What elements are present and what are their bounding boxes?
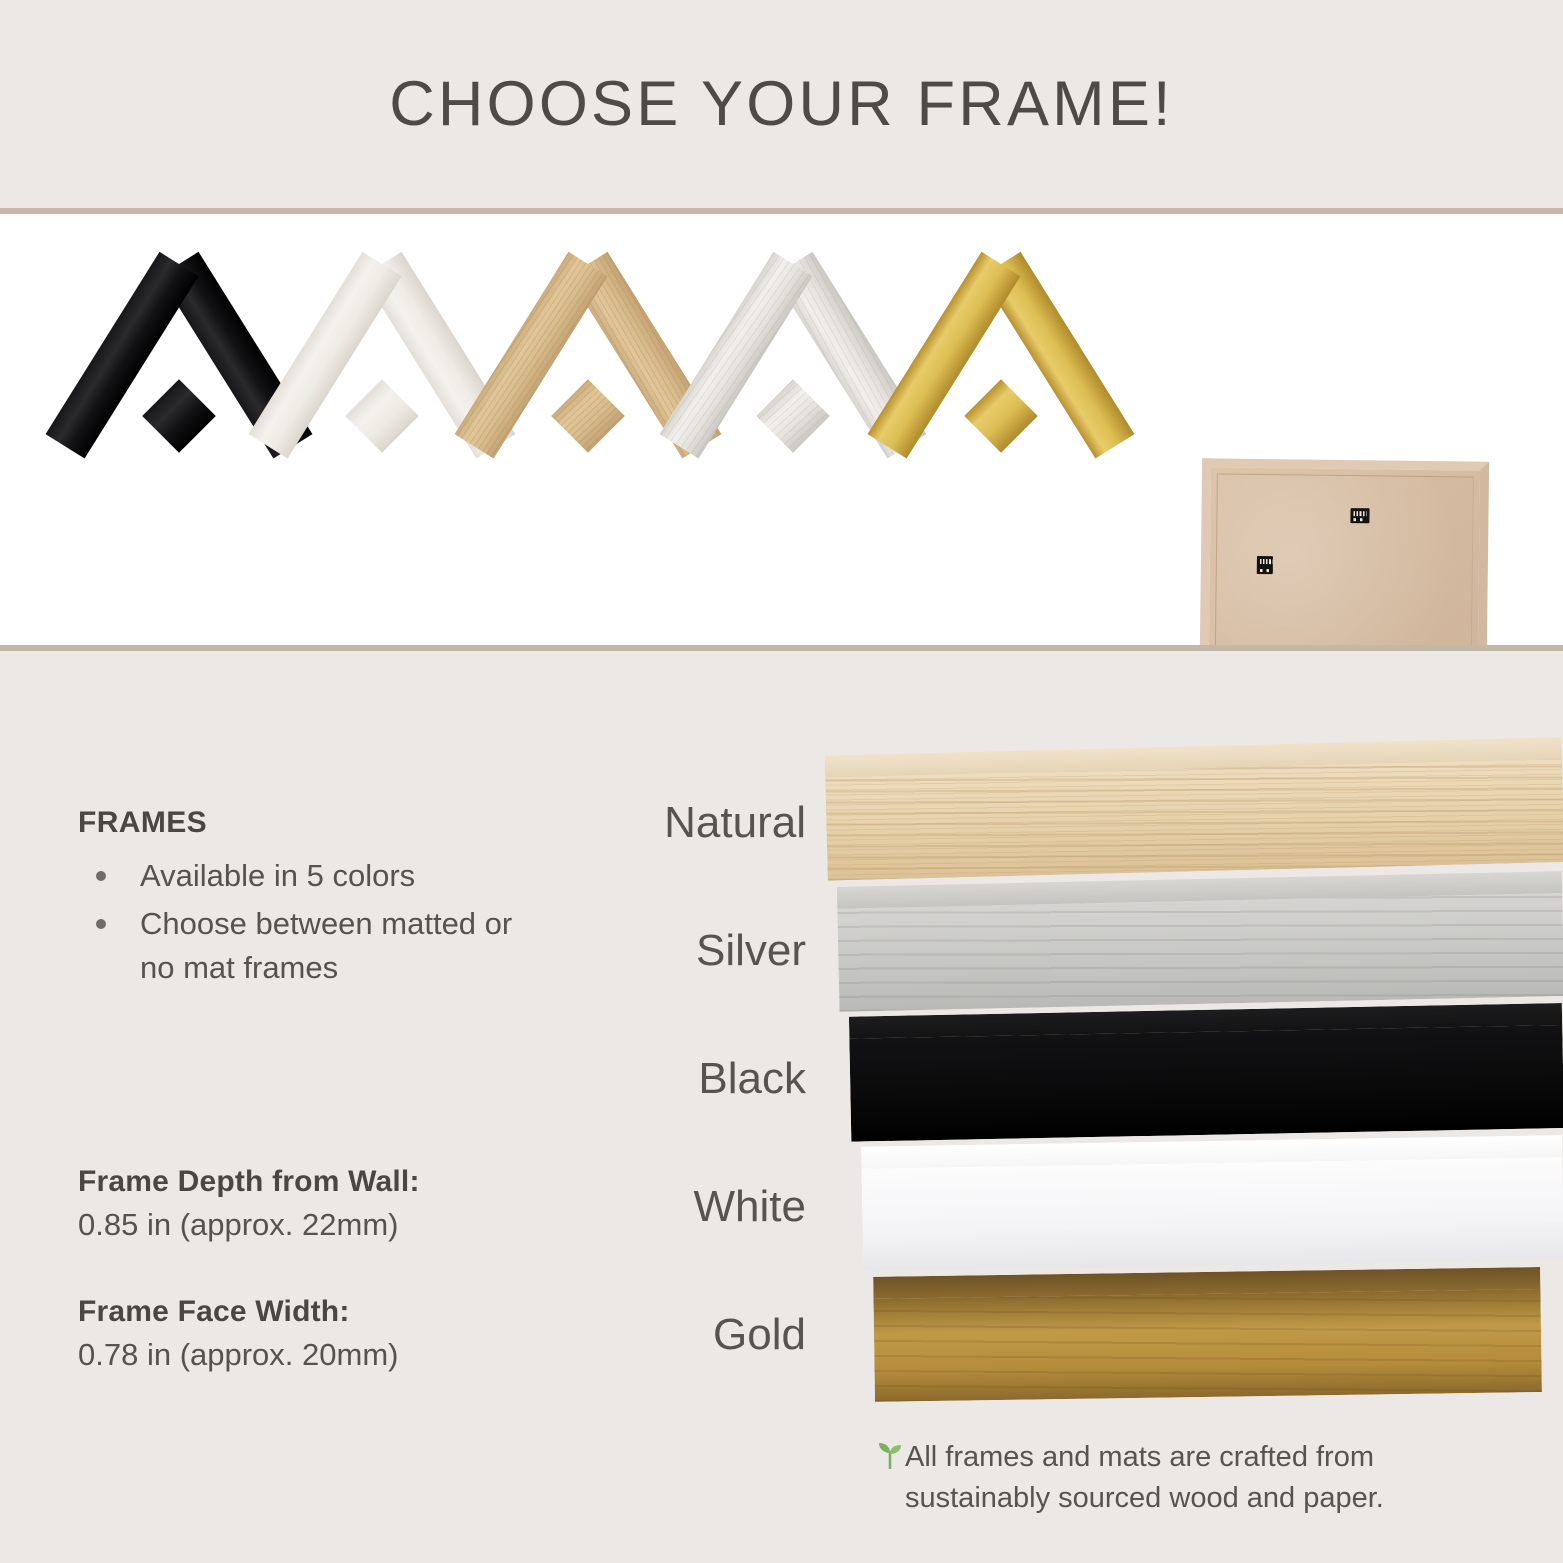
profile-front-face — [849, 1025, 1563, 1142]
profile-front-face — [825, 759, 1563, 881]
profile-front-face — [837, 893, 1563, 1012]
frame-corner-swatch-gold[interactable] — [896, 260, 1106, 610]
profile-bar-silver[interactable] — [837, 871, 1563, 1012]
frame-corner-joint — [964, 379, 1038, 453]
sustainability-line-2: sustainably sourced wood and paper. — [905, 1478, 1505, 1519]
frame-swatch-band — [0, 214, 1563, 645]
profile-bar-white[interactable] — [861, 1135, 1563, 1272]
sawtooth-hanger-icon — [1350, 508, 1369, 523]
sustainability-line-1: All frames and mats are crafted from — [905, 1437, 1505, 1478]
sustainability-note: All frames and mats are crafted from sus… — [905, 1437, 1505, 1519]
details-section: FRAMES Available in 5 colors Choose betw… — [0, 651, 1563, 1563]
page-title: CHOOSE YOUR FRAME! — [389, 68, 1174, 140]
profile-front-face — [861, 1157, 1563, 1272]
sawtooth-hanger-icon — [1257, 556, 1273, 574]
profile-bar-natural[interactable] — [825, 737, 1563, 881]
header-banner: CHOOSE YOUR FRAME! — [0, 0, 1563, 208]
frame-corner-joint — [345, 379, 419, 453]
frame-corner-swatch-silver[interactable] — [688, 260, 898, 610]
profile-front-face — [873, 1289, 1541, 1402]
profile-stack — [0, 737, 1563, 1427]
profile-bar-gold[interactable] — [873, 1267, 1542, 1402]
sprout-icon — [877, 1441, 903, 1469]
frame-corner-joint — [551, 379, 625, 453]
frame-corner-joint — [756, 379, 830, 453]
frame-corner-joint — [142, 379, 216, 453]
profile-bar-black[interactable] — [849, 1003, 1563, 1142]
infographic-page: CHOOSE YOUR FRAME! — [0, 0, 1563, 1563]
